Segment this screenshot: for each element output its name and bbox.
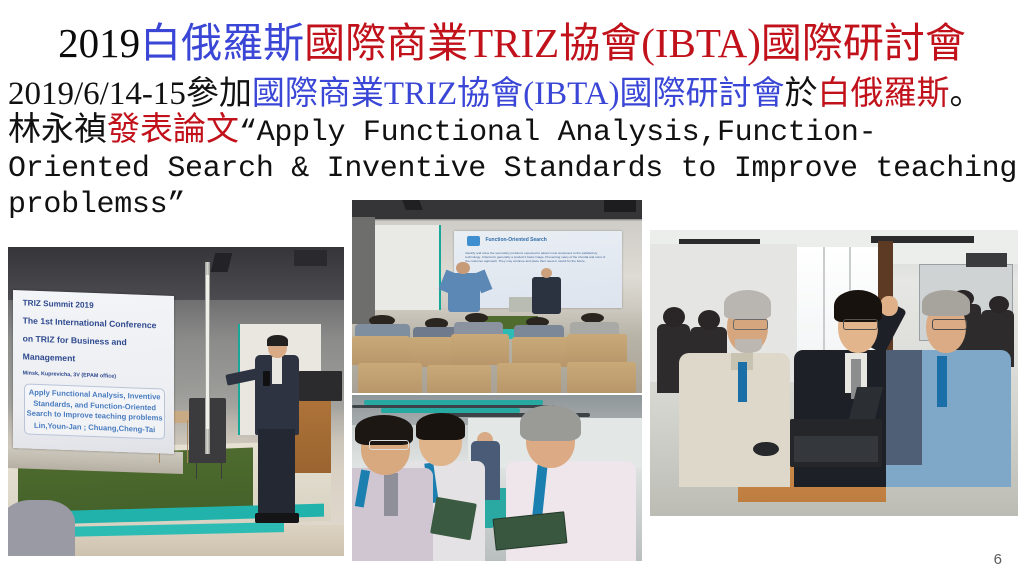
photo-mid-top-ceiling [352,200,642,219]
proj-slide-line-3: on TRIZ for Business and [23,334,127,348]
audience-chair [352,336,410,366]
audience-chair [567,334,628,365]
ceiling-conduit [352,405,555,408]
photo-right-vent [966,253,1006,267]
photo-right-mouse [753,442,779,456]
title-country: 白俄羅斯 [140,20,304,66]
photo-mid-top-ceiling-fixture [402,200,423,210]
photo-left-speaker-shoes [255,513,299,524]
photo-left-speaker-hair [267,335,287,346]
photo-left-monitor [299,371,343,402]
title-rest: 國際商業TRIZ協會(IBTA)國際研討會 [304,20,966,66]
body-author: 林永禎 [8,112,107,148]
background-person-head [698,310,720,330]
photo-right-man-left-glasses [733,319,768,331]
proj2-slide-title: Function-Oriented Search [485,237,546,243]
body-location: 白俄羅斯 [817,76,949,112]
audience-chair [567,362,637,393]
title-year: 2019 [58,20,140,66]
proj2-logo-icon [467,236,480,246]
page-number: 6 [994,551,1002,568]
photo-mid-bot-man-right-hair [520,405,581,442]
ceiling-pipe [364,400,544,405]
presentation-slide: 2019白俄羅斯國際商業TRIZ協會(IBTA)國際研討會 2019/6/14-… [0,0,1024,576]
photo-right-man-left-body [679,353,789,487]
photo-right-man-middle-glasses [843,319,878,331]
proj2-slide-body: Identify and solve the secondary problem… [465,251,610,264]
photo-attendees-circuit-board [352,395,642,561]
photo-right-man-right-lanyard [937,356,947,407]
photo-right-man-left-beard [735,339,763,353]
proj-slide-line-4: Management [23,352,76,364]
photo-mid-bot-man-left-glasses [369,440,409,450]
audience-chair [427,365,491,393]
photo-left-pole-light [206,275,209,430]
proj-slide-venue: Minsk, Kuprevicha, 3V (EPAM office) [23,371,116,380]
proj-slide-paper-box: Apply Functional Analysis, Inventive Sta… [24,384,165,440]
audience-chair [497,363,561,393]
photo-right-man-middle-hair [834,290,882,321]
photo-left-microphone [263,371,270,386]
proj-slide-line-1: TRIZ Summit 2019 [23,299,94,311]
photo-right-man-left-lanyard [738,362,747,402]
photo-right-man-left-hair [724,290,772,319]
circuit-board-secondary [430,496,476,539]
ceiling-pipe [381,408,520,413]
proj-slide-line-2: The 1st International Conference [23,316,157,331]
photo-left-foreground-person [8,500,75,556]
body-line-2: 林永禎發表論文“Apply Functional Analysis,Functi… [8,112,1020,151]
photo-mid-top-presenter-a-head [456,262,469,274]
photo-right-man-right-vest [886,350,923,464]
background-person-head [989,296,1009,313]
photo-right-man-right-hair [922,290,970,316]
photo-right-man-middle-hand [880,296,898,316]
photo-mid-bot-man-middle-hair [416,413,465,440]
photo-left-speaker-legs [258,429,295,519]
audience-chair [358,363,422,393]
photo-left-speaker-shirt [272,357,282,385]
photo-right-laptop-keyboard [794,436,879,462]
body-paper-title-part2: Oriented Search & Inventive Standards to… [8,151,1020,187]
photo-right-man-right-glasses [932,319,967,331]
photo-left-ceiling-fixture-2 [294,250,328,265]
photo-mid-top-whiteboard [375,225,441,310]
photo-left-chair-legs [196,457,222,479]
body-period: 。 [949,76,982,112]
audience-chair [512,337,570,367]
page-title: 2019白俄羅斯國際商業TRIZ協會(IBTA)國際研討會 [0,20,1024,66]
audience-chair [451,334,509,365]
photo-mid-bot-man-left-tie [384,473,399,516]
body-line-1: 2019/6/14-15參加國際商業TRIZ協會(IBTA)國際研討會於白俄羅斯… [8,76,1020,112]
photo-audience-session: Function-Oriented Search Identify and so… [352,200,642,393]
circuit-board [493,511,568,550]
photo-group-at-podium [650,230,1018,516]
body-date: 2019/6/14-15參加 [8,76,252,112]
photo-speaker-on-stage: TRIZ Summit 2019 The 1st International C… [8,247,344,556]
body-at: 於 [784,76,817,112]
body-action: 發表論文 [107,112,239,148]
body-paper-title-part1: “Apply Functional Analysis,Function- [239,116,876,150]
photo-mid-top-audience [352,306,642,393]
photo-left-projection-screen: TRIZ Summit 2019 The 1st International C… [13,290,174,453]
body-event-name: 國際商業TRIZ協會(IBTA)國際研討會 [252,76,785,112]
proj-slide-authors: Lin,Youn-Jan ; Chuang,Cheng-Tai [25,421,164,435]
photo-mid-top-ceiling-fixture-2 [604,200,636,212]
